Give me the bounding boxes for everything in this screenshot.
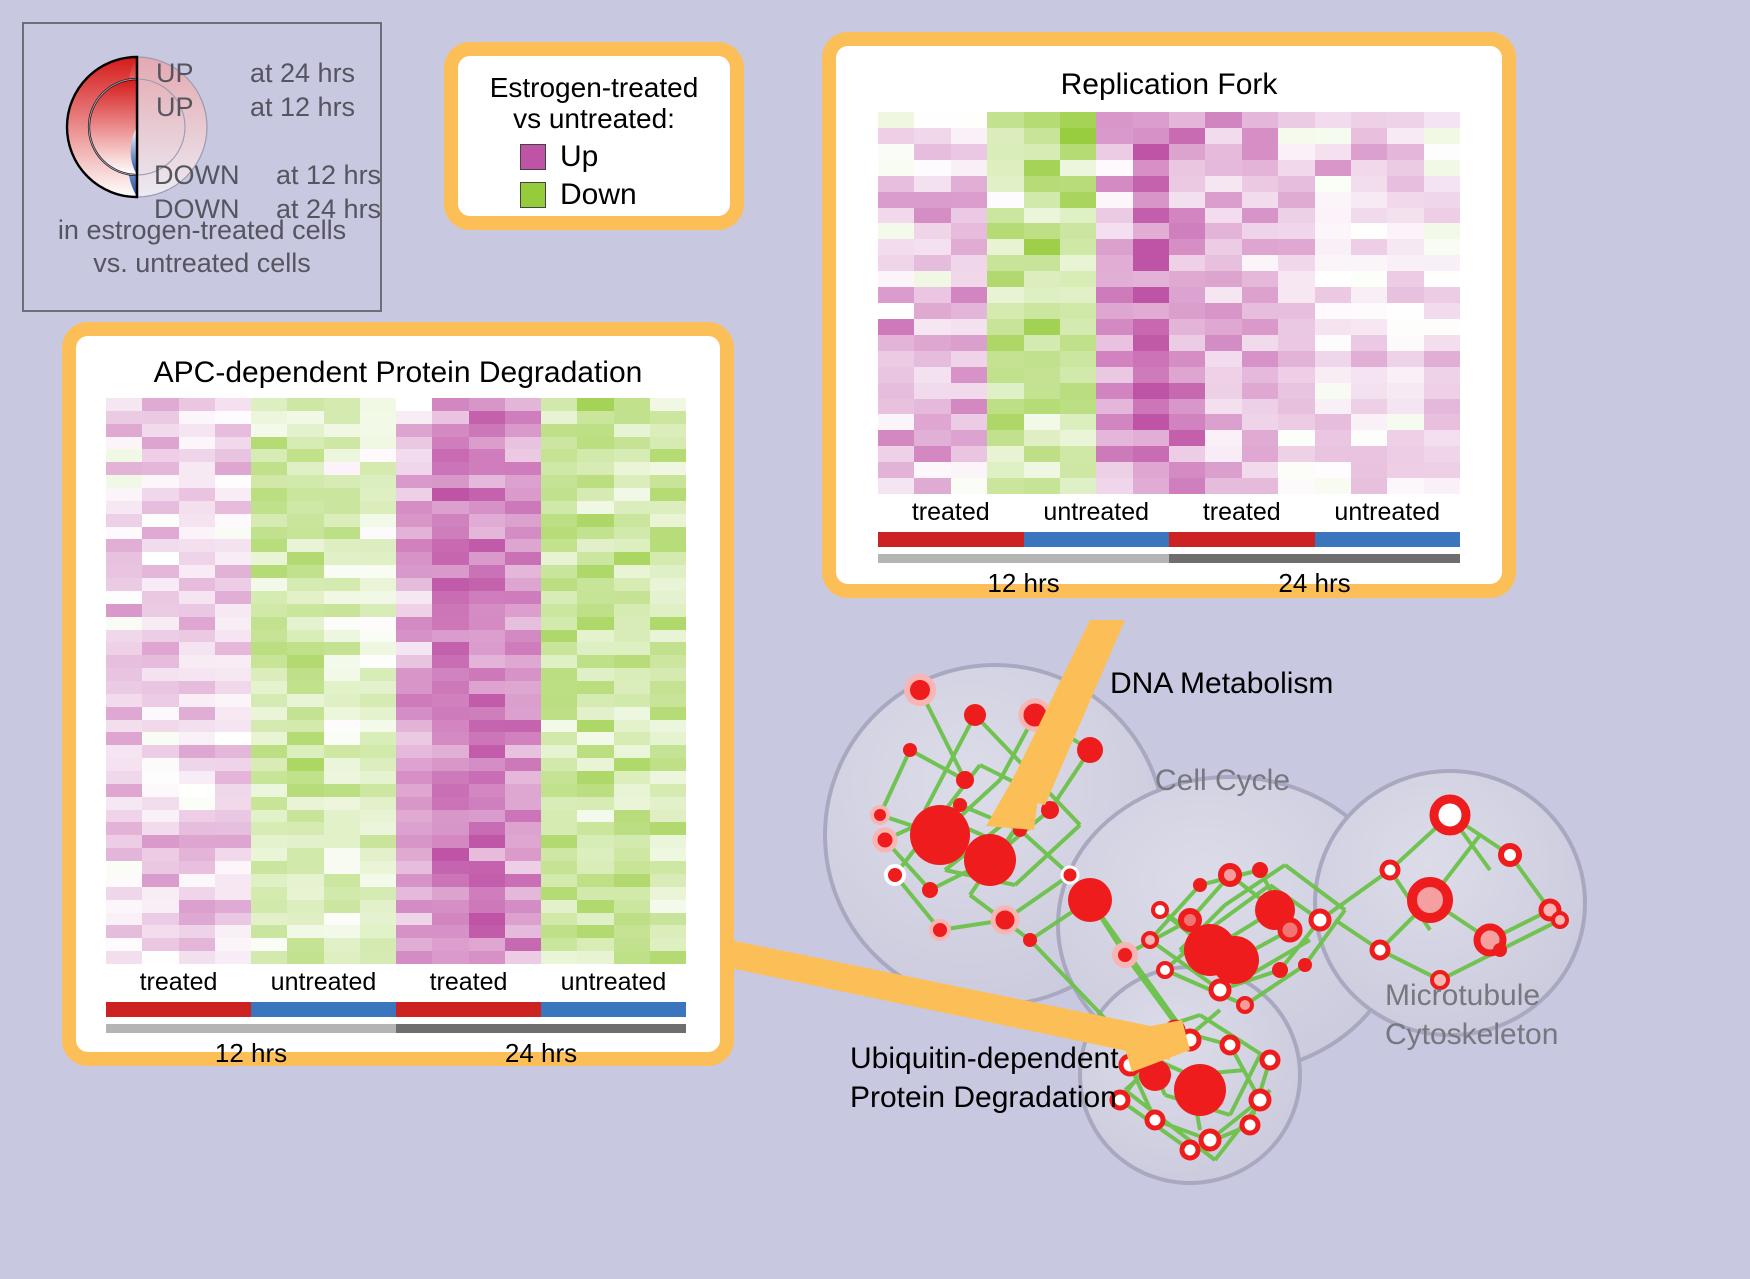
heatmap-cell (324, 822, 360, 835)
heatmap-cell (179, 874, 215, 887)
heatmap-cell (215, 797, 251, 810)
heatmap-cell (396, 591, 432, 604)
heatmap-cell (505, 617, 541, 630)
heatmap-cell (432, 720, 468, 733)
treatment-segment-treated (878, 532, 1024, 547)
heatmap-cell (1242, 430, 1278, 446)
heatmap-cell (287, 668, 323, 681)
heatmap-cell (1133, 112, 1169, 128)
rf-treatment-bar (878, 532, 1460, 547)
heatmap-cell (614, 720, 650, 733)
heatmap-cell (215, 398, 251, 411)
heatmap-cell (106, 578, 142, 591)
heatmap-cell (1424, 462, 1460, 478)
heatmap-cell (287, 771, 323, 784)
heatmap-cell (324, 630, 360, 643)
heatmap-cell (505, 861, 541, 874)
heatmap-cell (1133, 430, 1169, 446)
heatmap-cell (1351, 128, 1387, 144)
heatmap-cell (951, 430, 987, 446)
heatmap-cell (287, 475, 323, 488)
heatmap-cell (614, 951, 650, 964)
heatmap-cell (251, 732, 287, 745)
heatmap-cell (469, 655, 505, 668)
heatmap-cell (179, 437, 215, 450)
heatmap-cell (951, 367, 987, 383)
heatmap-cell (650, 900, 686, 913)
rf-sample-labels: treated untreated treated untreated (878, 498, 1460, 527)
heatmap-cell (1387, 144, 1423, 160)
treatment-segment-untreated (541, 1002, 686, 1017)
heatmap-cell (106, 655, 142, 668)
heatmap-cell (469, 732, 505, 745)
heatmap-cell (360, 874, 396, 887)
figure-canvas: UP at 24 hrs UP at 12 hrs DOWN at 12 hrs… (0, 0, 1750, 1279)
heatmap-cell (179, 462, 215, 475)
heatmap-cell (396, 424, 432, 437)
heatmap-cell (287, 861, 323, 874)
heatmap-cell (1278, 192, 1314, 208)
heatmap-cell (469, 642, 505, 655)
heatmap-cell (396, 462, 432, 475)
heatmap-cell (469, 771, 505, 784)
key-label-at-24: at 24 hrs (250, 58, 355, 89)
caption-line-2: vs. untreated cells (24, 247, 380, 280)
heatmap-cell (360, 398, 396, 411)
heatmap-cell (396, 745, 432, 758)
legend-label-up: Up (560, 140, 598, 174)
heatmap-cell (878, 112, 914, 128)
heatmap-cell (614, 501, 650, 514)
heatmap-cell (215, 951, 251, 964)
heatmap-cell (1133, 319, 1169, 335)
heatmap-cell (179, 758, 215, 771)
heatmap-cell (1242, 478, 1278, 494)
heatmap-cell (1387, 478, 1423, 494)
heatmap-cell (432, 887, 468, 900)
heatmap-cell (1278, 144, 1314, 160)
heatmap-cell (951, 176, 987, 192)
heatmap-cell (469, 874, 505, 887)
heatmap-cell (1315, 144, 1351, 160)
heatmap-cell (1424, 367, 1460, 383)
heatmap-cell (1096, 367, 1132, 383)
heatmap-cell (215, 720, 251, 733)
heatmap-cell (179, 642, 215, 655)
apc-panel-inner: APC-dependent Protein Degradation treate… (76, 336, 720, 1052)
heatmap-cell (541, 835, 577, 848)
heatmap-cell (951, 462, 987, 478)
heatmap-cell (287, 437, 323, 450)
heatmap-cell (287, 539, 323, 552)
heatmap-cell (396, 475, 432, 488)
heatmap-cell (505, 810, 541, 823)
heatmap-cell (1060, 192, 1096, 208)
heatmap-cell (179, 887, 215, 900)
heatmap-cell (142, 527, 178, 540)
heatmap-cell (469, 527, 505, 540)
heatmap-cell (1242, 462, 1278, 478)
heatmap-cell (324, 797, 360, 810)
heatmap-cell (432, 462, 468, 475)
heatmap-cell (179, 565, 215, 578)
heatmap-cell (1133, 367, 1169, 383)
heatmap-cell (469, 707, 505, 720)
heatmap-cell (179, 552, 215, 565)
heatmap-cell (324, 758, 360, 771)
heatmap-cell (1096, 287, 1132, 303)
heatmap-cell (614, 527, 650, 540)
heatmap-cell (251, 848, 287, 861)
heatmap-cell (577, 822, 613, 835)
heatmap-cell (106, 758, 142, 771)
heatmap-cell (614, 758, 650, 771)
heatmap-cell (1424, 255, 1460, 271)
heatmap-cell (215, 591, 251, 604)
heatmap-cell (541, 694, 577, 707)
heatmap-cell (1133, 255, 1169, 271)
heatmap-cell (614, 887, 650, 900)
cluster-label-dna-metabolism: DNA Metabolism (1110, 667, 1333, 700)
heatmap-cell (432, 784, 468, 797)
heatmap-cell (287, 745, 323, 758)
heatmap-cell (1024, 430, 1060, 446)
heatmap-cell (179, 398, 215, 411)
apc-sample-labels: treated untreated treated untreated (106, 968, 686, 997)
apc-time-label-0: 12 hrs (106, 1038, 396, 1069)
caption-line-1: in estrogen-treated cells (24, 214, 380, 247)
heatmap-cell (878, 176, 914, 192)
heatmap-cell (1169, 287, 1205, 303)
heatmap-cell (215, 642, 251, 655)
heatmap-cell (577, 437, 613, 450)
heatmap-cell (360, 539, 396, 552)
heatmap-cell (505, 771, 541, 784)
heatmap-cell (1024, 335, 1060, 351)
heatmap-cell (396, 565, 432, 578)
heatmap-cell (142, 424, 178, 437)
heatmap-cell (1278, 367, 1314, 383)
heatmap-cell (505, 655, 541, 668)
heatmap-cell (650, 938, 686, 951)
heatmap-cell (914, 176, 950, 192)
heatmap-cell (106, 732, 142, 745)
heatmap-cell (360, 668, 396, 681)
heatmap-cell (215, 630, 251, 643)
heatmap-cell (1351, 446, 1387, 462)
heatmap-cell (1024, 287, 1060, 303)
heatmap-cell (1242, 112, 1278, 128)
heatmap-cell (1351, 478, 1387, 494)
legend-item-up: Up (520, 140, 598, 174)
heatmap-cell (360, 797, 396, 810)
heatmap-cell (951, 112, 987, 128)
heatmap-cell (215, 784, 251, 797)
heatmap-cell (142, 617, 178, 630)
replication-fork-heatmap (878, 112, 1460, 494)
heatmap-cell (914, 478, 950, 494)
heatmap-cell (360, 707, 396, 720)
heatmap-cell (1169, 144, 1205, 160)
heatmap-cell (360, 501, 396, 514)
heatmap-cell (106, 900, 142, 913)
heatmap-cell (179, 732, 215, 745)
heatmap-cell (396, 835, 432, 848)
heatmap-cell (1060, 414, 1096, 430)
heatmap-cell (1060, 144, 1096, 160)
heatmap-cell (987, 367, 1023, 383)
heatmap-cell (106, 887, 142, 900)
heatmap-cell (396, 578, 432, 591)
heatmap-cell (142, 694, 178, 707)
heatmap-cell (360, 437, 396, 450)
heatmap-cell (396, 951, 432, 964)
heatmap-cell (1278, 319, 1314, 335)
heatmap-cell (396, 552, 432, 565)
heatmap-cell (179, 604, 215, 617)
heatmap-cell (1060, 446, 1096, 462)
heatmap-cell (1242, 144, 1278, 160)
heatmap-cell (1387, 112, 1423, 128)
heatmap-cell (650, 462, 686, 475)
heatmap-cell (469, 424, 505, 437)
heatmap-cell (505, 913, 541, 926)
heatmap-cell (541, 758, 577, 771)
heatmap-cell (614, 539, 650, 552)
heatmap-cell (987, 319, 1023, 335)
heatmap-cell (469, 848, 505, 861)
heatmap-cell (179, 951, 215, 964)
heatmap-cell (577, 604, 613, 617)
heatmap-cell (541, 398, 577, 411)
heatmap-cell (541, 655, 577, 668)
heatmap-cell (215, 707, 251, 720)
heatmap-cell (1024, 112, 1060, 128)
heatmap-cell (215, 462, 251, 475)
heatmap-cell (287, 411, 323, 424)
key-label-up-24: UP (156, 58, 194, 89)
heatmap-cell (287, 514, 323, 527)
heatmap-cell (1387, 351, 1423, 367)
heatmap-cell (287, 655, 323, 668)
heatmap-cell (251, 694, 287, 707)
heatmap-cell (432, 475, 468, 488)
heatmap-cell (1169, 239, 1205, 255)
legend-title: Estrogen-treated vs untreated: (458, 72, 730, 135)
heatmap-cell (1242, 223, 1278, 239)
heatmap-cell (614, 449, 650, 462)
heatmap-cell (142, 951, 178, 964)
heatmap-cell (142, 514, 178, 527)
heatmap-cell (215, 771, 251, 784)
heatmap-cell (878, 144, 914, 160)
heatmap-cell (142, 475, 178, 488)
heatmap-cell (215, 604, 251, 617)
heatmap-cell (360, 617, 396, 630)
heatmap-cell (1169, 319, 1205, 335)
heatmap-cell (287, 398, 323, 411)
heatmap-cell (987, 335, 1023, 351)
heatmap-cell (951, 239, 987, 255)
heatmap-cell (650, 475, 686, 488)
heatmap-cell (1315, 223, 1351, 239)
heatmap-cell (1315, 303, 1351, 319)
heatmap-cell (287, 835, 323, 848)
heatmap-cell (215, 449, 251, 462)
heatmap-cell (251, 784, 287, 797)
heatmap-cell (469, 501, 505, 514)
heatmap-cell (541, 668, 577, 681)
heatmap-cell (215, 655, 251, 668)
heatmap-cell (650, 681, 686, 694)
heatmap-cell (505, 681, 541, 694)
heatmap-cell (577, 874, 613, 887)
heatmap-cell (1278, 287, 1314, 303)
rf-sample-label-0: treated (878, 498, 1024, 527)
heatmap-cell (142, 655, 178, 668)
heatmap-cell (951, 223, 987, 239)
heatmap-cell (469, 900, 505, 913)
heatmap-cell (324, 642, 360, 655)
heatmap-cell (951, 351, 987, 367)
heatmap-cell (469, 514, 505, 527)
heatmap-cell (614, 874, 650, 887)
heatmap-cell (1387, 430, 1423, 446)
heatmap-cell (360, 745, 396, 758)
heatmap-cell (1133, 192, 1169, 208)
heatmap-cell (614, 861, 650, 874)
heatmap-cell (650, 604, 686, 617)
heatmap-cell (251, 925, 287, 938)
heatmap-cell (251, 642, 287, 655)
heatmap-cell (650, 758, 686, 771)
heatmap-cell (396, 900, 432, 913)
heatmap-cell (614, 578, 650, 591)
heatmap-cell (179, 501, 215, 514)
heatmap-cell (1205, 335, 1241, 351)
heatmap-cell (106, 668, 142, 681)
heatmap-cell (1387, 208, 1423, 224)
heatmap-cell (324, 449, 360, 462)
heatmap-cell (432, 925, 468, 938)
heatmap-cell (1133, 399, 1169, 415)
heatmap-cell (287, 822, 323, 835)
heatmap-cell (251, 887, 287, 900)
heatmap-cell (1351, 239, 1387, 255)
heatmap-cell (1024, 239, 1060, 255)
heatmap-cell (1315, 239, 1351, 255)
heatmap-cell (324, 462, 360, 475)
heatmap-cell (360, 642, 396, 655)
heatmap-cell (142, 861, 178, 874)
cluster-label-ubiquitin-line2: Protein Degradation (850, 1081, 1117, 1114)
heatmap-cell (179, 848, 215, 861)
heatmap-cell (179, 900, 215, 913)
heatmap-cell (251, 578, 287, 591)
heatmap-cell (251, 591, 287, 604)
heatmap-cell (1169, 414, 1205, 430)
heatmap-cell (505, 411, 541, 424)
heatmap-cell (142, 900, 178, 913)
heatmap-cell (142, 848, 178, 861)
heatmap-cell (614, 475, 650, 488)
heatmap-cell (287, 913, 323, 926)
heatmap-cell (287, 758, 323, 771)
heatmap-cell (614, 913, 650, 926)
heatmap-cell (541, 771, 577, 784)
heatmap-cell (951, 399, 987, 415)
heatmap-cell (1351, 287, 1387, 303)
apc-time-bar (106, 1024, 686, 1033)
heatmap-cell (1060, 367, 1096, 383)
heatmap-cell (1424, 351, 1460, 367)
heatmap-cell (650, 655, 686, 668)
heatmap-cell (324, 424, 360, 437)
heatmap-cell (541, 720, 577, 733)
heatmap-cell (106, 411, 142, 424)
heatmap-cell (432, 745, 468, 758)
heatmap-cell (614, 604, 650, 617)
heatmap-cell (914, 351, 950, 367)
heatmap-cell (650, 591, 686, 604)
heatmap-cell (505, 835, 541, 848)
heatmap-cell (1169, 462, 1205, 478)
heatmap-cell (142, 732, 178, 745)
heatmap-cell (287, 732, 323, 745)
heatmap-cell (360, 810, 396, 823)
heatmap-cell (878, 271, 914, 287)
heatmap-cell (142, 398, 178, 411)
heatmap-cell (541, 539, 577, 552)
heatmap-cell (1351, 271, 1387, 287)
heatmap-cell (1315, 112, 1351, 128)
heatmap-cell (251, 617, 287, 630)
heatmap-cell (287, 900, 323, 913)
heatmap-cell (541, 578, 577, 591)
heatmap-cell (614, 668, 650, 681)
key-label-up-12: UP (156, 92, 194, 123)
heatmap-cell (505, 694, 541, 707)
heatmap-cell (469, 398, 505, 411)
heatmap-cell (142, 797, 178, 810)
heatmap-cell (106, 514, 142, 527)
heatmap-cell (215, 835, 251, 848)
heatmap-cell (251, 527, 287, 540)
heatmap-cell (432, 771, 468, 784)
heatmap-cell (287, 552, 323, 565)
heatmap-cell (1315, 430, 1351, 446)
apc-treatment-bar (106, 1002, 686, 1017)
heatmap-cell (650, 565, 686, 578)
heatmap-cell (1351, 399, 1387, 415)
heatmap-cell (432, 707, 468, 720)
heatmap-cell (541, 822, 577, 835)
heatmap-cell (914, 223, 950, 239)
heatmap-cell (577, 925, 613, 938)
heatmap-cell (505, 900, 541, 913)
heatmap-cell (251, 488, 287, 501)
heatmap-cell (541, 527, 577, 540)
heatmap-cell (577, 771, 613, 784)
heatmap-cell (469, 552, 505, 565)
heatmap-cell (1205, 367, 1241, 383)
heatmap-cell (1424, 144, 1460, 160)
heatmap-cell (1242, 192, 1278, 208)
heatmap-cell (914, 144, 950, 160)
heatmap-cell (215, 925, 251, 938)
heatmap-cell (1242, 287, 1278, 303)
heatmap-cell (1096, 446, 1132, 462)
